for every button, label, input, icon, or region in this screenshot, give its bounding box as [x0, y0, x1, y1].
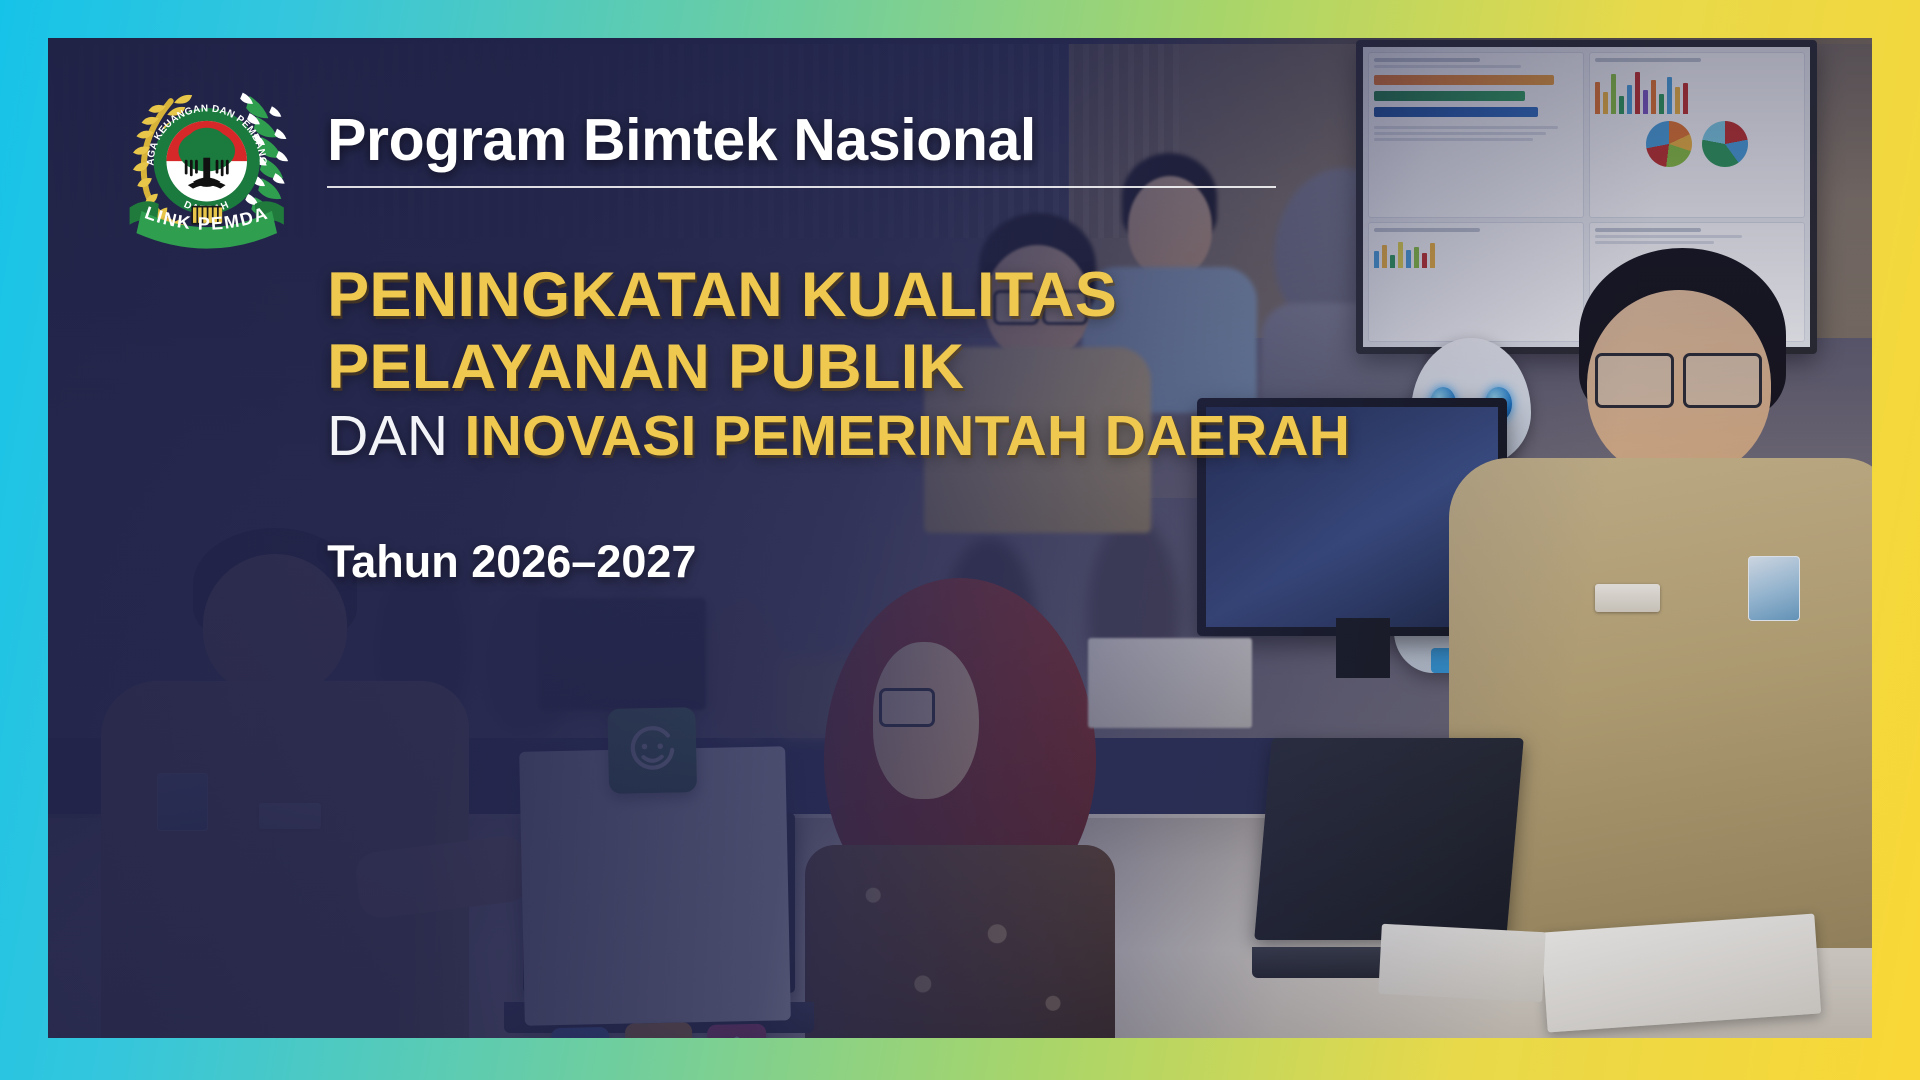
headline-line-2: PELAYANAN PUBLIK [327, 332, 1458, 404]
headline-line-3: DAN INOVASI PEMERINTAH DAERAH [327, 404, 1458, 469]
title-divider [327, 186, 1275, 188]
headline-block: PENINGKATAN KUALITAS PELAYANAN PUBLIK DA… [327, 260, 1458, 469]
headline-line-1: PENINGKATAN KUALITAS [327, 260, 1458, 332]
promotional-banner: LAYANAN PUBLIK [0, 0, 1920, 1080]
link-pemda-logo: LEMBAGA KEUANGAN DAN PEMBANGUNAN DAERAH [121, 72, 292, 249]
banner-content: LEMBAGA KEUANGAN DAN PEMBANGUNAN DAERAH [48, 38, 1872, 1038]
headline-line-3-accent: INOVASI PEMERINTAH DAERAH [464, 404, 1350, 468]
program-title-block: Program Bimtek Nasional [327, 110, 1275, 188]
page-title: Program Bimtek Nasional [327, 110, 1275, 170]
headline-line-3-prefix: DAN [327, 404, 448, 468]
banner-stage: LAYANAN PUBLIK [48, 38, 1872, 1038]
program-year: Tahun 2026–2027 [327, 536, 696, 588]
